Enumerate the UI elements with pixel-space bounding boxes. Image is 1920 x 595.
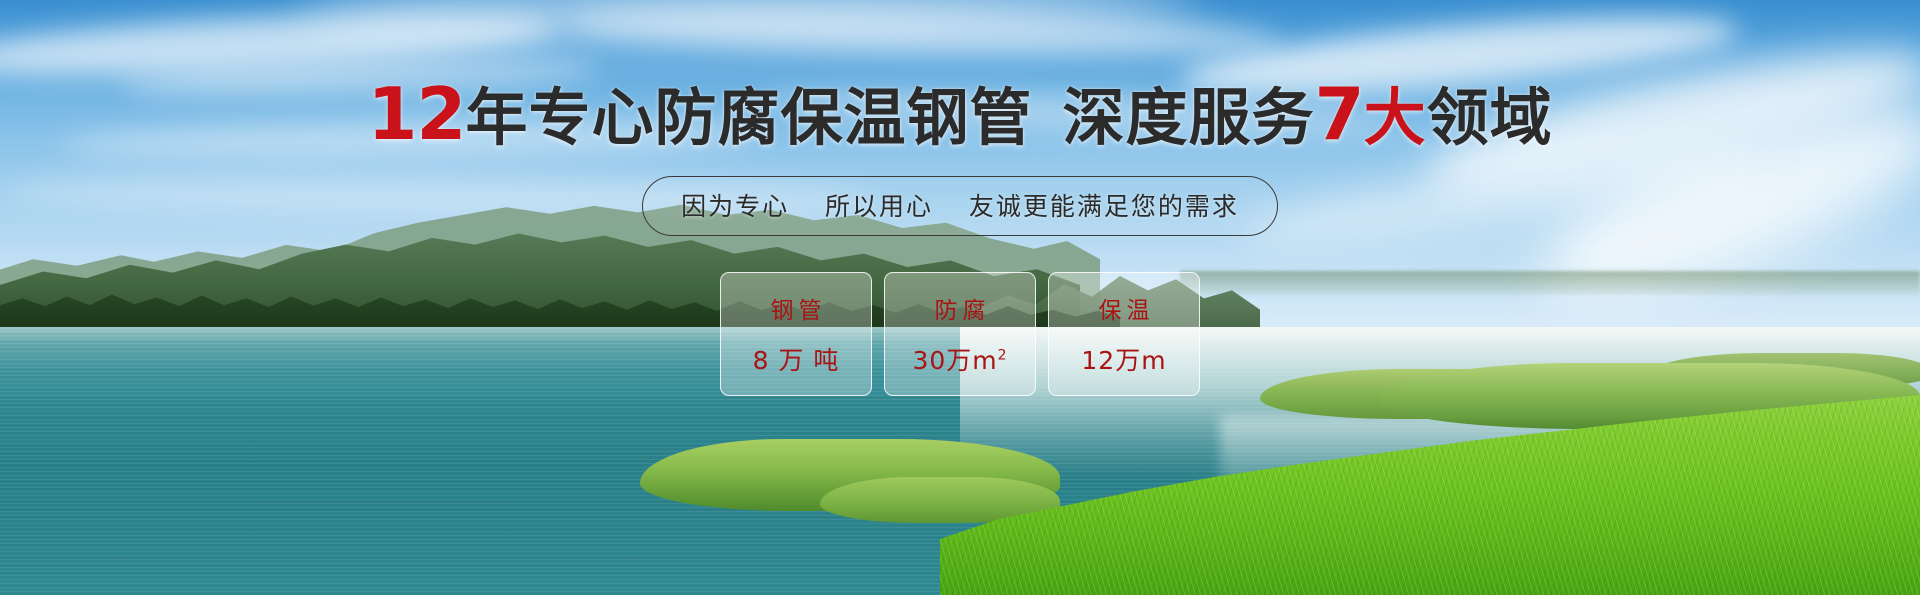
stats-card-group: 钢管 8 万 吨 防腐 30万m2 保温 12万m [720,272,1200,396]
headline-text-part-3: 领域 [1427,81,1553,154]
headline-accent-number: 7 [1315,72,1364,156]
stat-card-title: 保温 [1094,291,1155,325]
hero-banner: 12年专心防腐保温钢管深度服务7大领域 因为专心 所以用心 友诚更能满足您的需求… [0,0,1920,595]
headline-text-part-1: 年专心防腐保温钢管 [466,81,1033,154]
stat-card-title: 防腐 [930,291,991,325]
stat-card-value: 8 万 吨 [753,341,840,377]
headline-text-part-2: 深度服务 [1063,81,1315,154]
subtitle-segment-3: 友诚更能满足您的需求 [969,192,1239,221]
stat-card-value-text: 12万m [1081,346,1166,375]
stat-card-value-text: 8 万 吨 [753,346,840,375]
subtitle-segment-2: 所以用心 [825,192,933,221]
banner-headline: 12年专心防腐保温钢管深度服务7大领域 [367,78,1552,150]
stat-card-insulation[interactable]: 保温 12万m [1048,272,1200,396]
subtitle-segment-1: 因为专心 [681,192,789,221]
headline-accent-word: 大 [1364,81,1427,154]
stat-card-steel-pipe[interactable]: 钢管 8 万 吨 [720,272,872,396]
stat-card-anticorrosion[interactable]: 防腐 30万m2 [884,272,1036,396]
headline-years-number: 12 [367,72,465,156]
stat-card-value-superscript: 2 [998,348,1008,364]
stat-card-value-text: 30万m [912,346,997,375]
stat-card-title: 钢管 [766,291,827,325]
banner-content: 12年专心防腐保温钢管深度服务7大领域 因为专心 所以用心 友诚更能满足您的需求… [0,0,1920,595]
stat-card-value: 12万m [1081,341,1166,377]
stat-card-value: 30万m2 [912,341,1007,377]
banner-subtitle-pill: 因为专心 所以用心 友诚更能满足您的需求 [642,176,1278,236]
